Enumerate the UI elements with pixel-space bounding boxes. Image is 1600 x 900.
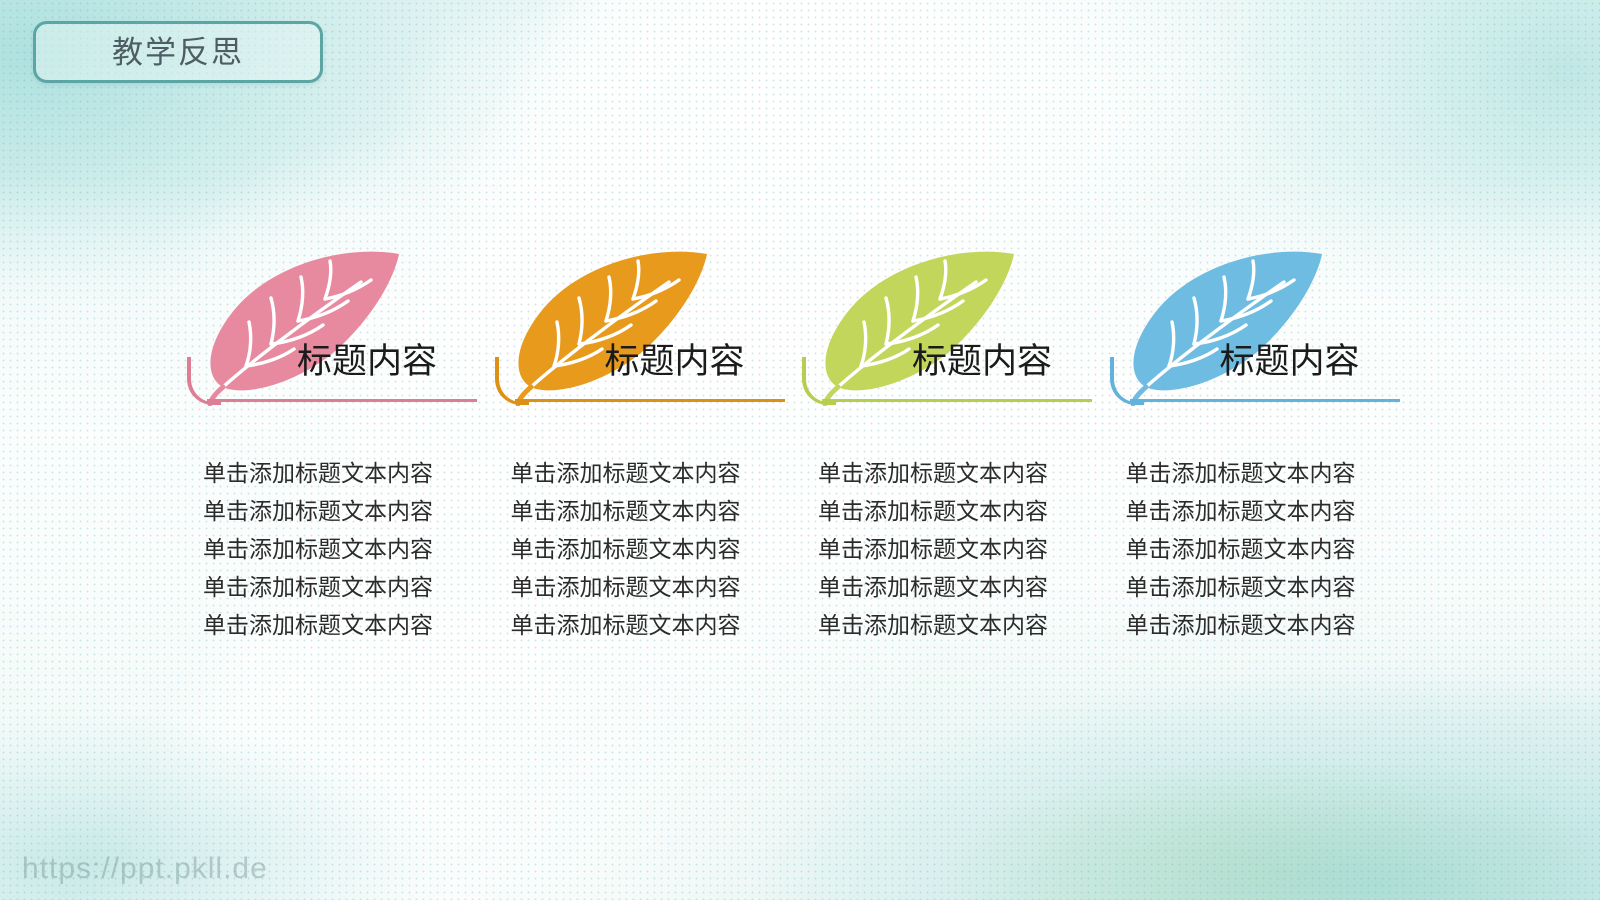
column-body-4: 单击添加标题文本内容 单击添加标题文本内容 单击添加标题文本内容 单击添加标题文… — [1108, 454, 1416, 644]
body-line: 单击添加标题文本内容 — [203, 568, 493, 606]
body-line: 单击添加标题文本内容 — [818, 530, 1108, 568]
body-line: 单击添加标题文本内容 — [203, 492, 493, 530]
leaf-heading-group-3: 标题内容 — [800, 248, 1108, 410]
leaf-icon — [193, 248, 405, 406]
column-underline — [207, 399, 477, 402]
body-line: 单击添加标题文本内容 — [1126, 568, 1416, 606]
body-line: 单击添加标题文本内容 — [203, 606, 493, 644]
leaf-icon — [501, 248, 713, 406]
body-line: 单击添加标题文本内容 — [511, 492, 801, 530]
body-line: 单击添加标题文本内容 — [818, 492, 1108, 530]
column-body-2: 单击添加标题文本内容 单击添加标题文本内容 单击添加标题文本内容 单击添加标题文… — [493, 454, 801, 644]
content-columns: 标题内容 单击添加标题文本内容 单击添加标题文本内容 单击添加标题文本内容 单击… — [185, 248, 1415, 644]
site-watermark: https://ppt.pkll.de — [22, 852, 268, 886]
body-line: 单击添加标题文本内容 — [203, 454, 493, 492]
body-line: 单击添加标题文本内容 — [818, 606, 1108, 644]
body-line: 单击添加标题文本内容 — [1126, 492, 1416, 530]
body-line: 单击添加标题文本内容 — [1126, 454, 1416, 492]
slide-canvas: 教学反思 — [0, 0, 1600, 900]
column-heading: 标题内容 — [912, 344, 1052, 379]
content-column-1: 标题内容 单击添加标题文本内容 单击添加标题文本内容 单击添加标题文本内容 单击… — [185, 248, 493, 644]
column-underline — [1130, 399, 1400, 402]
body-line: 单击添加标题文本内容 — [203, 530, 493, 568]
body-line: 单击添加标题文本内容 — [511, 606, 801, 644]
body-line: 单击添加标题文本内容 — [511, 530, 801, 568]
page-title: 教学反思 — [112, 37, 244, 68]
leaf-icon — [808, 248, 1020, 406]
body-line: 单击添加标题文本内容 — [818, 568, 1108, 606]
content-column-4: 标题内容 单击添加标题文本内容 单击添加标题文本内容 单击添加标题文本内容 单击… — [1108, 248, 1416, 644]
content-column-2: 标题内容 单击添加标题文本内容 单击添加标题文本内容 单击添加标题文本内容 单击… — [493, 248, 801, 644]
body-line: 单击添加标题文本内容 — [511, 568, 801, 606]
column-underline — [822, 399, 1092, 402]
leaf-heading-group-2: 标题内容 — [493, 248, 801, 410]
leaf-heading-group-1: 标题内容 — [185, 248, 493, 410]
body-line: 单击添加标题文本内容 — [1126, 606, 1416, 644]
body-line: 单击添加标题文本内容 — [1126, 530, 1416, 568]
leaf-icon — [1116, 248, 1328, 406]
column-body-1: 单击添加标题文本内容 单击添加标题文本内容 单击添加标题文本内容 单击添加标题文… — [185, 454, 493, 644]
slide-title-badge: 教学反思 — [33, 21, 323, 83]
column-underline — [515, 399, 785, 402]
column-body-3: 单击添加标题文本内容 单击添加标题文本内容 单击添加标题文本内容 单击添加标题文… — [800, 454, 1108, 644]
body-line: 单击添加标题文本内容 — [511, 454, 801, 492]
content-column-3: 标题内容 单击添加标题文本内容 单击添加标题文本内容 单击添加标题文本内容 单击… — [800, 248, 1108, 644]
leaf-heading-group-4: 标题内容 — [1108, 248, 1416, 410]
body-line: 单击添加标题文本内容 — [818, 454, 1108, 492]
column-heading: 标题内容 — [605, 344, 745, 379]
column-heading: 标题内容 — [1220, 344, 1360, 379]
column-heading: 标题内容 — [297, 344, 437, 379]
